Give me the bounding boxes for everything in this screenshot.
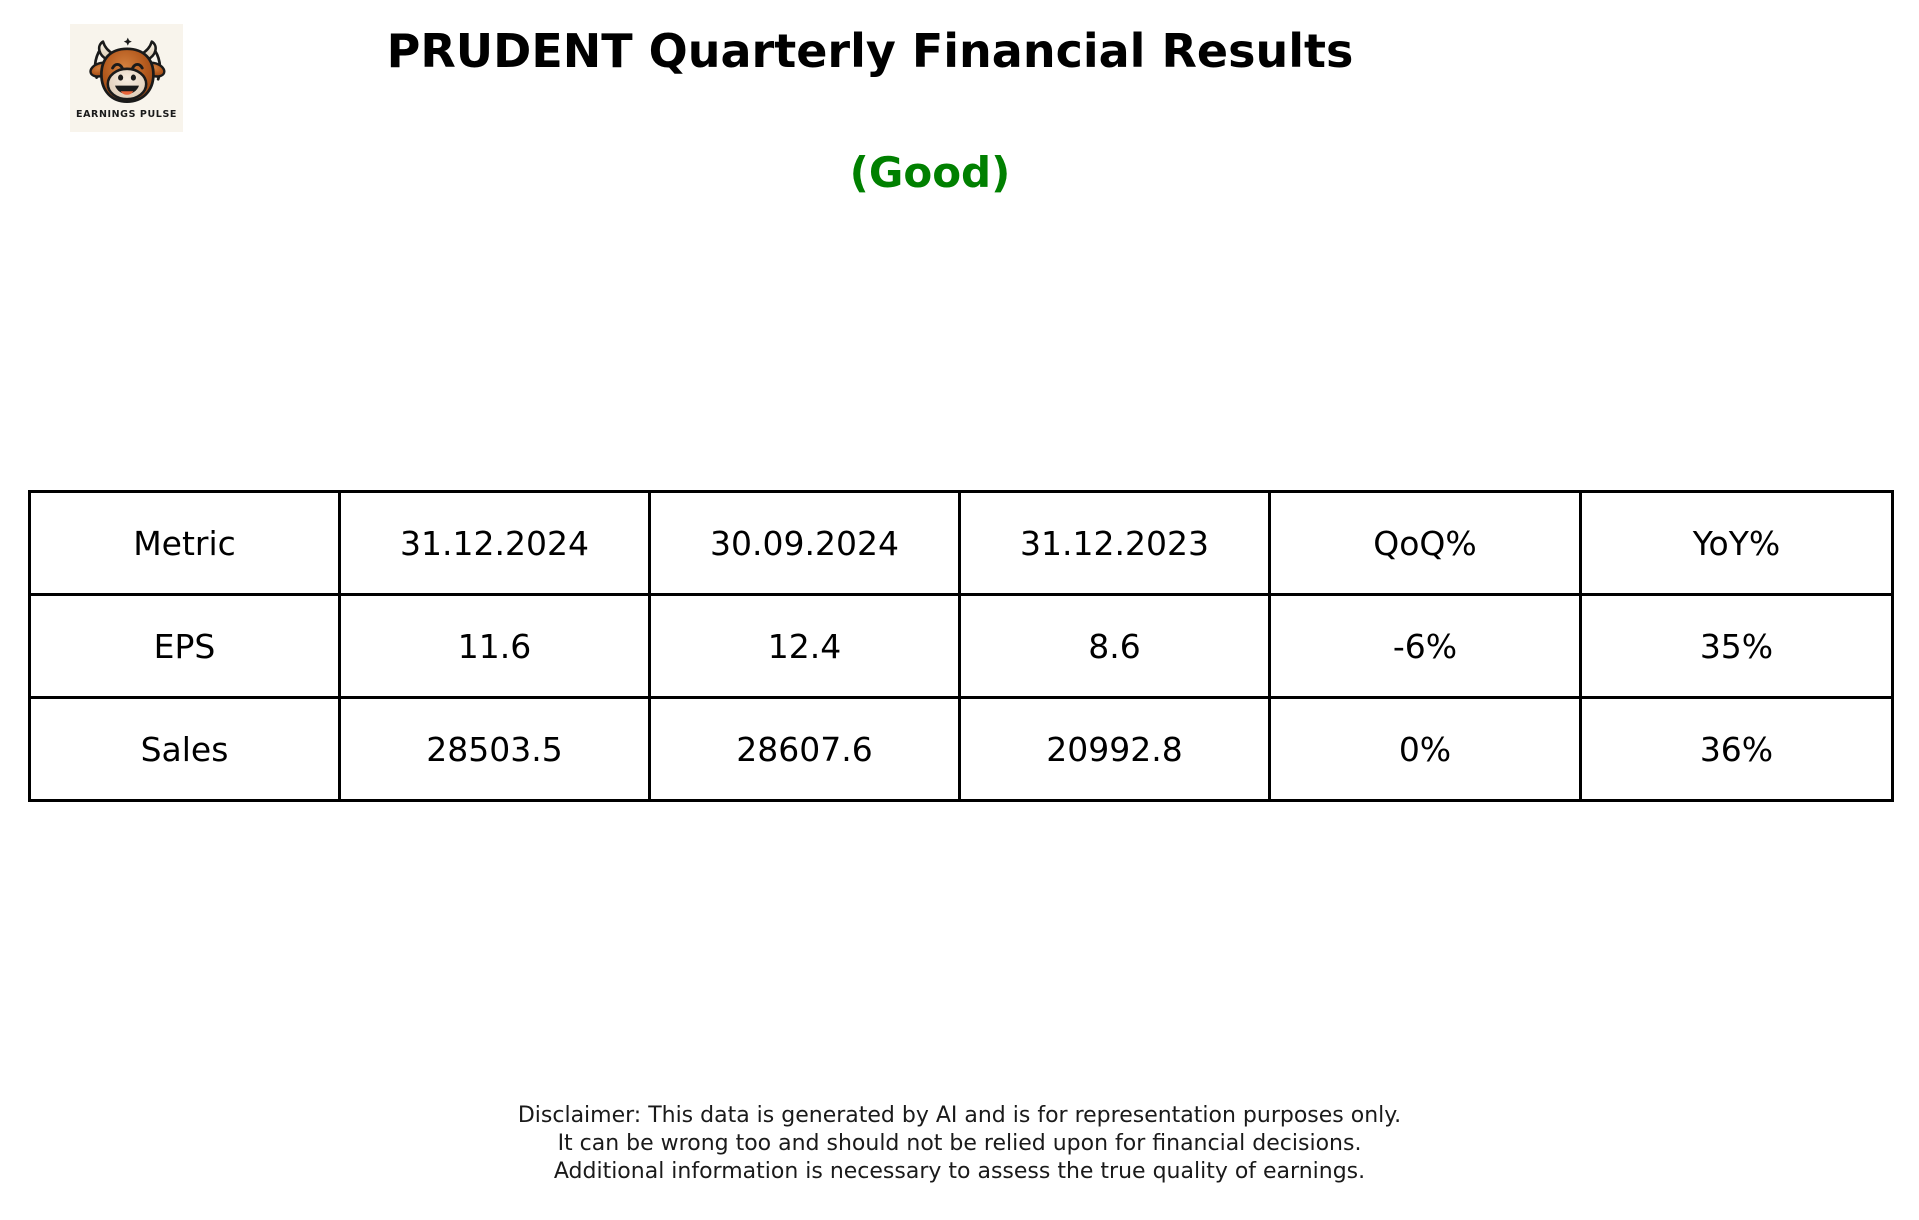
eps-value-period-2: 12.4 [650,595,960,698]
column-header-period-2: 30.09.2024 [650,492,960,595]
table-row: Sales 28503.5 28607.6 20992.8 0% 36% [30,698,1893,801]
table-header-row: Metric 31.12.2024 30.09.2024 31.12.2023 … [30,492,1893,595]
disclaimer-line-3: Additional information is necessary to a… [0,1158,1919,1186]
column-header-qoq: QoQ% [1270,492,1581,595]
eps-value-period-3: 8.6 [960,595,1270,698]
eps-yoy-change: 35% [1581,595,1893,698]
row-label-eps: EPS [30,595,340,698]
row-label-sales: Sales [30,698,340,801]
column-header-period-1: 31.12.2024 [340,492,650,595]
sales-value-period-3: 20992.8 [960,698,1270,801]
disclaimer-line-1: Disclaimer: This data is generated by AI… [0,1102,1919,1130]
eps-value-period-1: 11.6 [340,595,650,698]
quality-verdict-subtitle: (Good) [0,150,1860,196]
disclaimer-line-2: It can be wrong too and should not be re… [0,1130,1919,1158]
quarterly-results-table: Metric 31.12.2024 30.09.2024 31.12.2023 … [28,490,1894,802]
sales-yoy-change: 36% [1581,698,1893,801]
column-header-period-3: 31.12.2023 [960,492,1270,595]
sales-value-period-2: 28607.6 [650,698,960,801]
page-title: PRUDENT Quarterly Financial Results [0,26,1740,77]
column-header-metric: Metric [30,492,340,595]
disclaimer: Disclaimer: This data is generated by AI… [0,1102,1919,1186]
table-row: EPS 11.6 12.4 8.6 -6% 35% [30,595,1893,698]
logo-wordmark: EARNINGS PULSE [76,110,177,120]
sales-qoq-change: 0% [1270,698,1581,801]
column-header-yoy: YoY% [1581,492,1893,595]
eps-qoq-change: -6% [1270,595,1581,698]
sales-value-period-1: 28503.5 [340,698,650,801]
